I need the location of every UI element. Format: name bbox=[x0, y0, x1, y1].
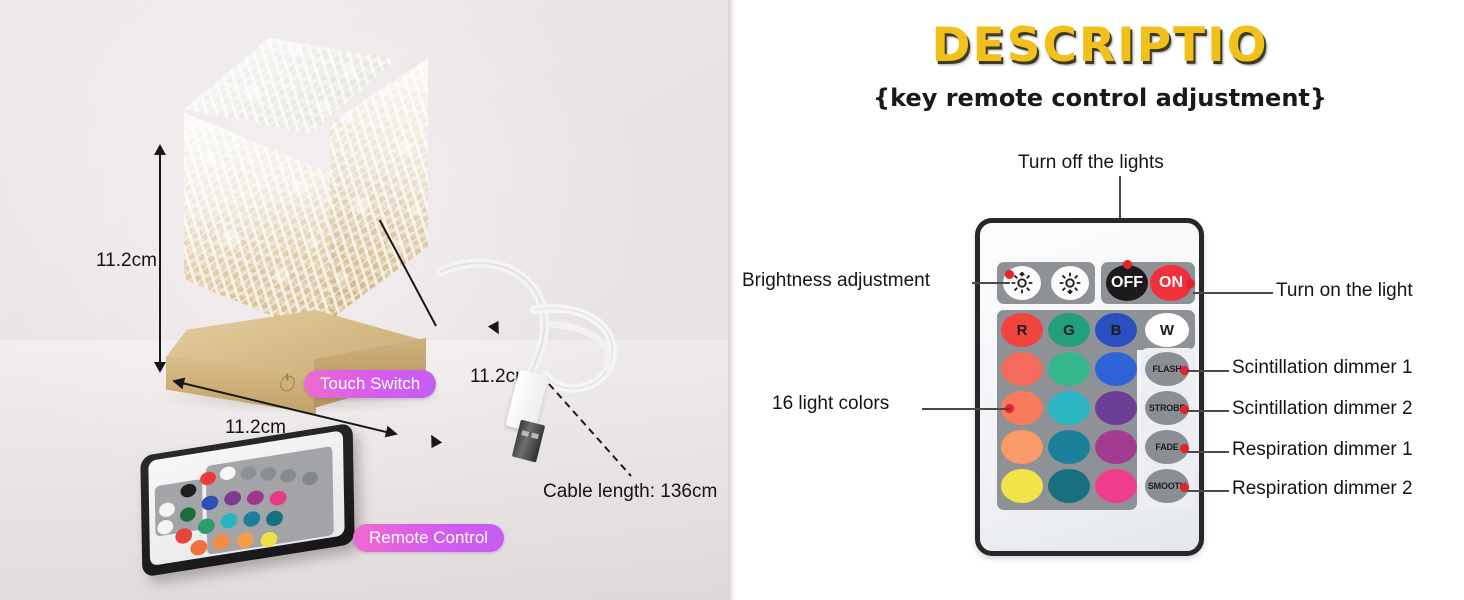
height-arrow-top bbox=[154, 144, 166, 155]
callout-brightness-adjustment: Brightness adjustment bbox=[742, 270, 930, 292]
button-on-label: ON bbox=[1159, 274, 1183, 292]
mini-color-swatch bbox=[260, 531, 277, 549]
height-dimension-line bbox=[159, 152, 161, 370]
callout-respiration-dimmer-1: Respiration dimmer 1 bbox=[1232, 439, 1413, 461]
crystal-cube-lamp bbox=[180, 38, 430, 368]
ripple-highlights bbox=[184, 108, 331, 340]
leader-line-turn-on bbox=[1193, 292, 1273, 294]
remote-control-badge-label: Remote Control bbox=[369, 528, 488, 548]
leader-line-respiration-1 bbox=[1187, 451, 1229, 453]
button-off[interactable]: OFF bbox=[1106, 265, 1148, 301]
cable-length-label: Cable length: 136cm bbox=[543, 481, 717, 503]
marker-dot-brightness bbox=[1005, 270, 1014, 279]
callout-turn-off-the-lights: Turn off the lights bbox=[1018, 152, 1164, 174]
callout-scintillation-dimmer-1: Scintillation dimmer 1 bbox=[1232, 357, 1413, 379]
sun-up-icon bbox=[1011, 272, 1033, 294]
button-brightness-down[interactable] bbox=[1051, 266, 1089, 300]
button-color-red[interactable]: R bbox=[1001, 313, 1043, 347]
button-color-salmon[interactable] bbox=[1001, 352, 1043, 386]
button-color-blue[interactable]: B bbox=[1095, 313, 1137, 347]
leader-line-scintillation-1 bbox=[1187, 370, 1229, 372]
button-color-yellow[interactable] bbox=[1001, 469, 1043, 503]
button-color-red-label: R bbox=[1017, 322, 1028, 339]
leader-line-brightness bbox=[972, 282, 1010, 284]
remote-control-illustration: OFF ON R G B W bbox=[975, 218, 1204, 556]
button-color-bright-blue[interactable] bbox=[1095, 352, 1137, 386]
page-title: DESCRIPTIO bbox=[736, 18, 1464, 73]
button-color-green[interactable]: G bbox=[1048, 313, 1090, 347]
remote-control-badge: Remote Control bbox=[353, 524, 504, 552]
button-color-magenta-purple[interactable] bbox=[1095, 430, 1137, 464]
button-mode-flash-label: FLASH bbox=[1153, 364, 1182, 374]
button-mode-fade-label: FADE bbox=[1155, 442, 1178, 452]
description-panel: DESCRIPTIO {key remote control adjustmen… bbox=[736, 0, 1464, 600]
cable-length-leader-line bbox=[545, 380, 655, 490]
callout-turn-on-the-light: Turn on the light bbox=[1276, 280, 1413, 302]
marker-dot-on bbox=[1186, 279, 1195, 288]
callout-16-light-colors: 16 light colors bbox=[772, 393, 889, 415]
marker-dot-off bbox=[1123, 260, 1132, 269]
leader-line-16-colors bbox=[922, 408, 1010, 410]
callout-scintillation-dimmer-2: Scintillation dimmer 2 bbox=[1232, 398, 1413, 420]
button-color-light-orange[interactable] bbox=[1001, 430, 1043, 464]
mini-color-swatch bbox=[175, 527, 192, 545]
button-color-green-label: G bbox=[1063, 322, 1075, 339]
touch-switch-badge: Touch Switch bbox=[304, 370, 436, 398]
product-photo-panel: 11.2cm 11.2cm 11.2cm Cable length: bbox=[0, 0, 728, 600]
button-color-cyan[interactable] bbox=[1048, 391, 1090, 425]
height-dimension-label: 11.2cm bbox=[96, 250, 157, 272]
touch-switch-badge-label: Touch Switch bbox=[320, 374, 420, 394]
leader-line-respiration-2 bbox=[1187, 490, 1229, 492]
page-subtitle: {key remote control adjustment} bbox=[736, 84, 1464, 112]
button-color-sea-green[interactable] bbox=[1048, 352, 1090, 386]
leader-line-scintillation-2 bbox=[1187, 410, 1229, 412]
button-color-steel-teal[interactable] bbox=[1048, 430, 1090, 464]
panel-divider bbox=[728, 0, 736, 600]
height-arrow-bottom bbox=[154, 362, 166, 373]
button-off-label: OFF bbox=[1111, 274, 1143, 292]
button-color-purple[interactable] bbox=[1095, 391, 1137, 425]
cube-left-face bbox=[184, 108, 331, 340]
button-color-blue-label: B bbox=[1111, 322, 1122, 339]
sun-down-icon bbox=[1059, 272, 1081, 294]
button-color-dark-teal[interactable] bbox=[1048, 469, 1090, 503]
button-color-white-label: W bbox=[1160, 322, 1174, 339]
button-color-hot-pink[interactable] bbox=[1095, 469, 1137, 503]
mini-color-swatch bbox=[190, 539, 207, 557]
product-description-image: 11.2cm 11.2cm 11.2cm Cable length: bbox=[0, 0, 1464, 600]
callout-respiration-dimmer-2: Respiration dimmer 2 bbox=[1232, 478, 1413, 500]
button-color-white[interactable]: W bbox=[1145, 313, 1189, 347]
